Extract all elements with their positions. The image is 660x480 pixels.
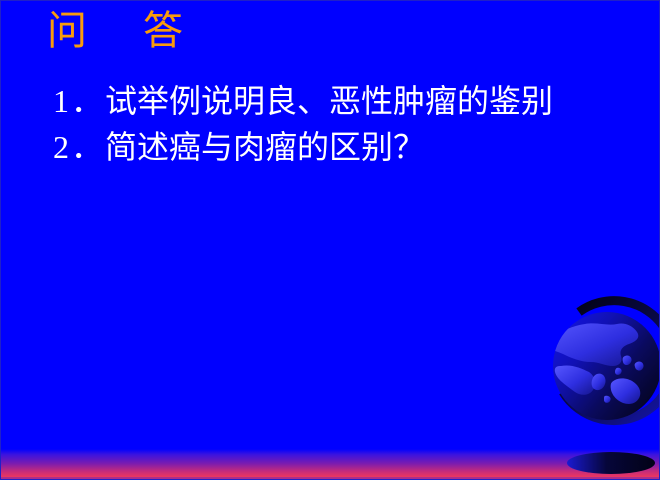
- globe-shadow: [567, 452, 655, 474]
- globe-graphic: [541, 296, 660, 480]
- list-item-marker: 2．: [53, 129, 105, 165]
- slide-canvas: 问 答 1．试举例说明良、恶性肿瘤的鉴别 2．简述癌与肉瘤的区别？: [0, 0, 660, 480]
- bottom-edge-line: [1, 477, 659, 479]
- list-item-marker: 1．: [53, 83, 105, 119]
- list-item: 2．简述癌与肉瘤的区别？: [53, 125, 633, 169]
- page-title: 问 答: [47, 7, 191, 55]
- list-item: 1．试举例说明良、恶性肿瘤的鉴别: [53, 79, 633, 123]
- list-item-text: 简述癌与肉瘤的区别？: [105, 129, 425, 165]
- question-list: 1．试举例说明良、恶性肿瘤的鉴别 2．简述癌与肉瘤的区别？: [53, 79, 633, 171]
- list-item-text: 试举例说明良、恶性肿瘤的鉴别: [105, 83, 553, 119]
